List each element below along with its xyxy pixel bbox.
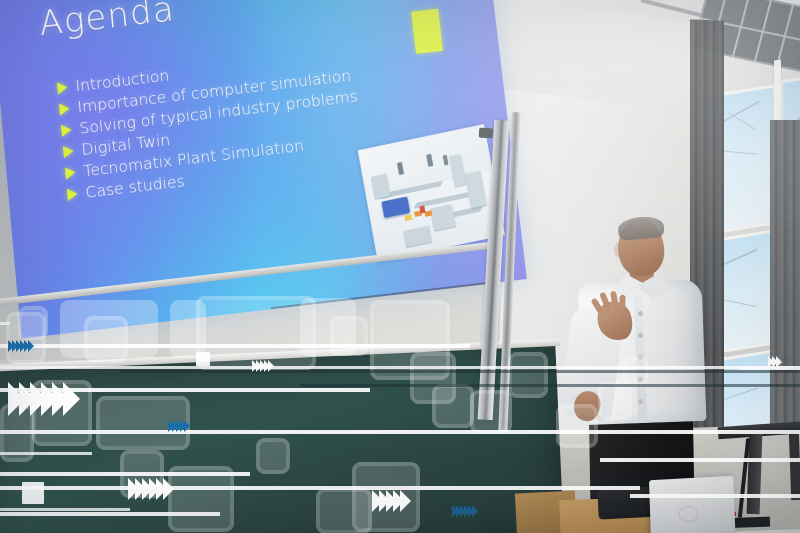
vignette	[0, 0, 800, 533]
screenshot-root: Agenda Introduction Importance of comput…	[0, 0, 800, 533]
